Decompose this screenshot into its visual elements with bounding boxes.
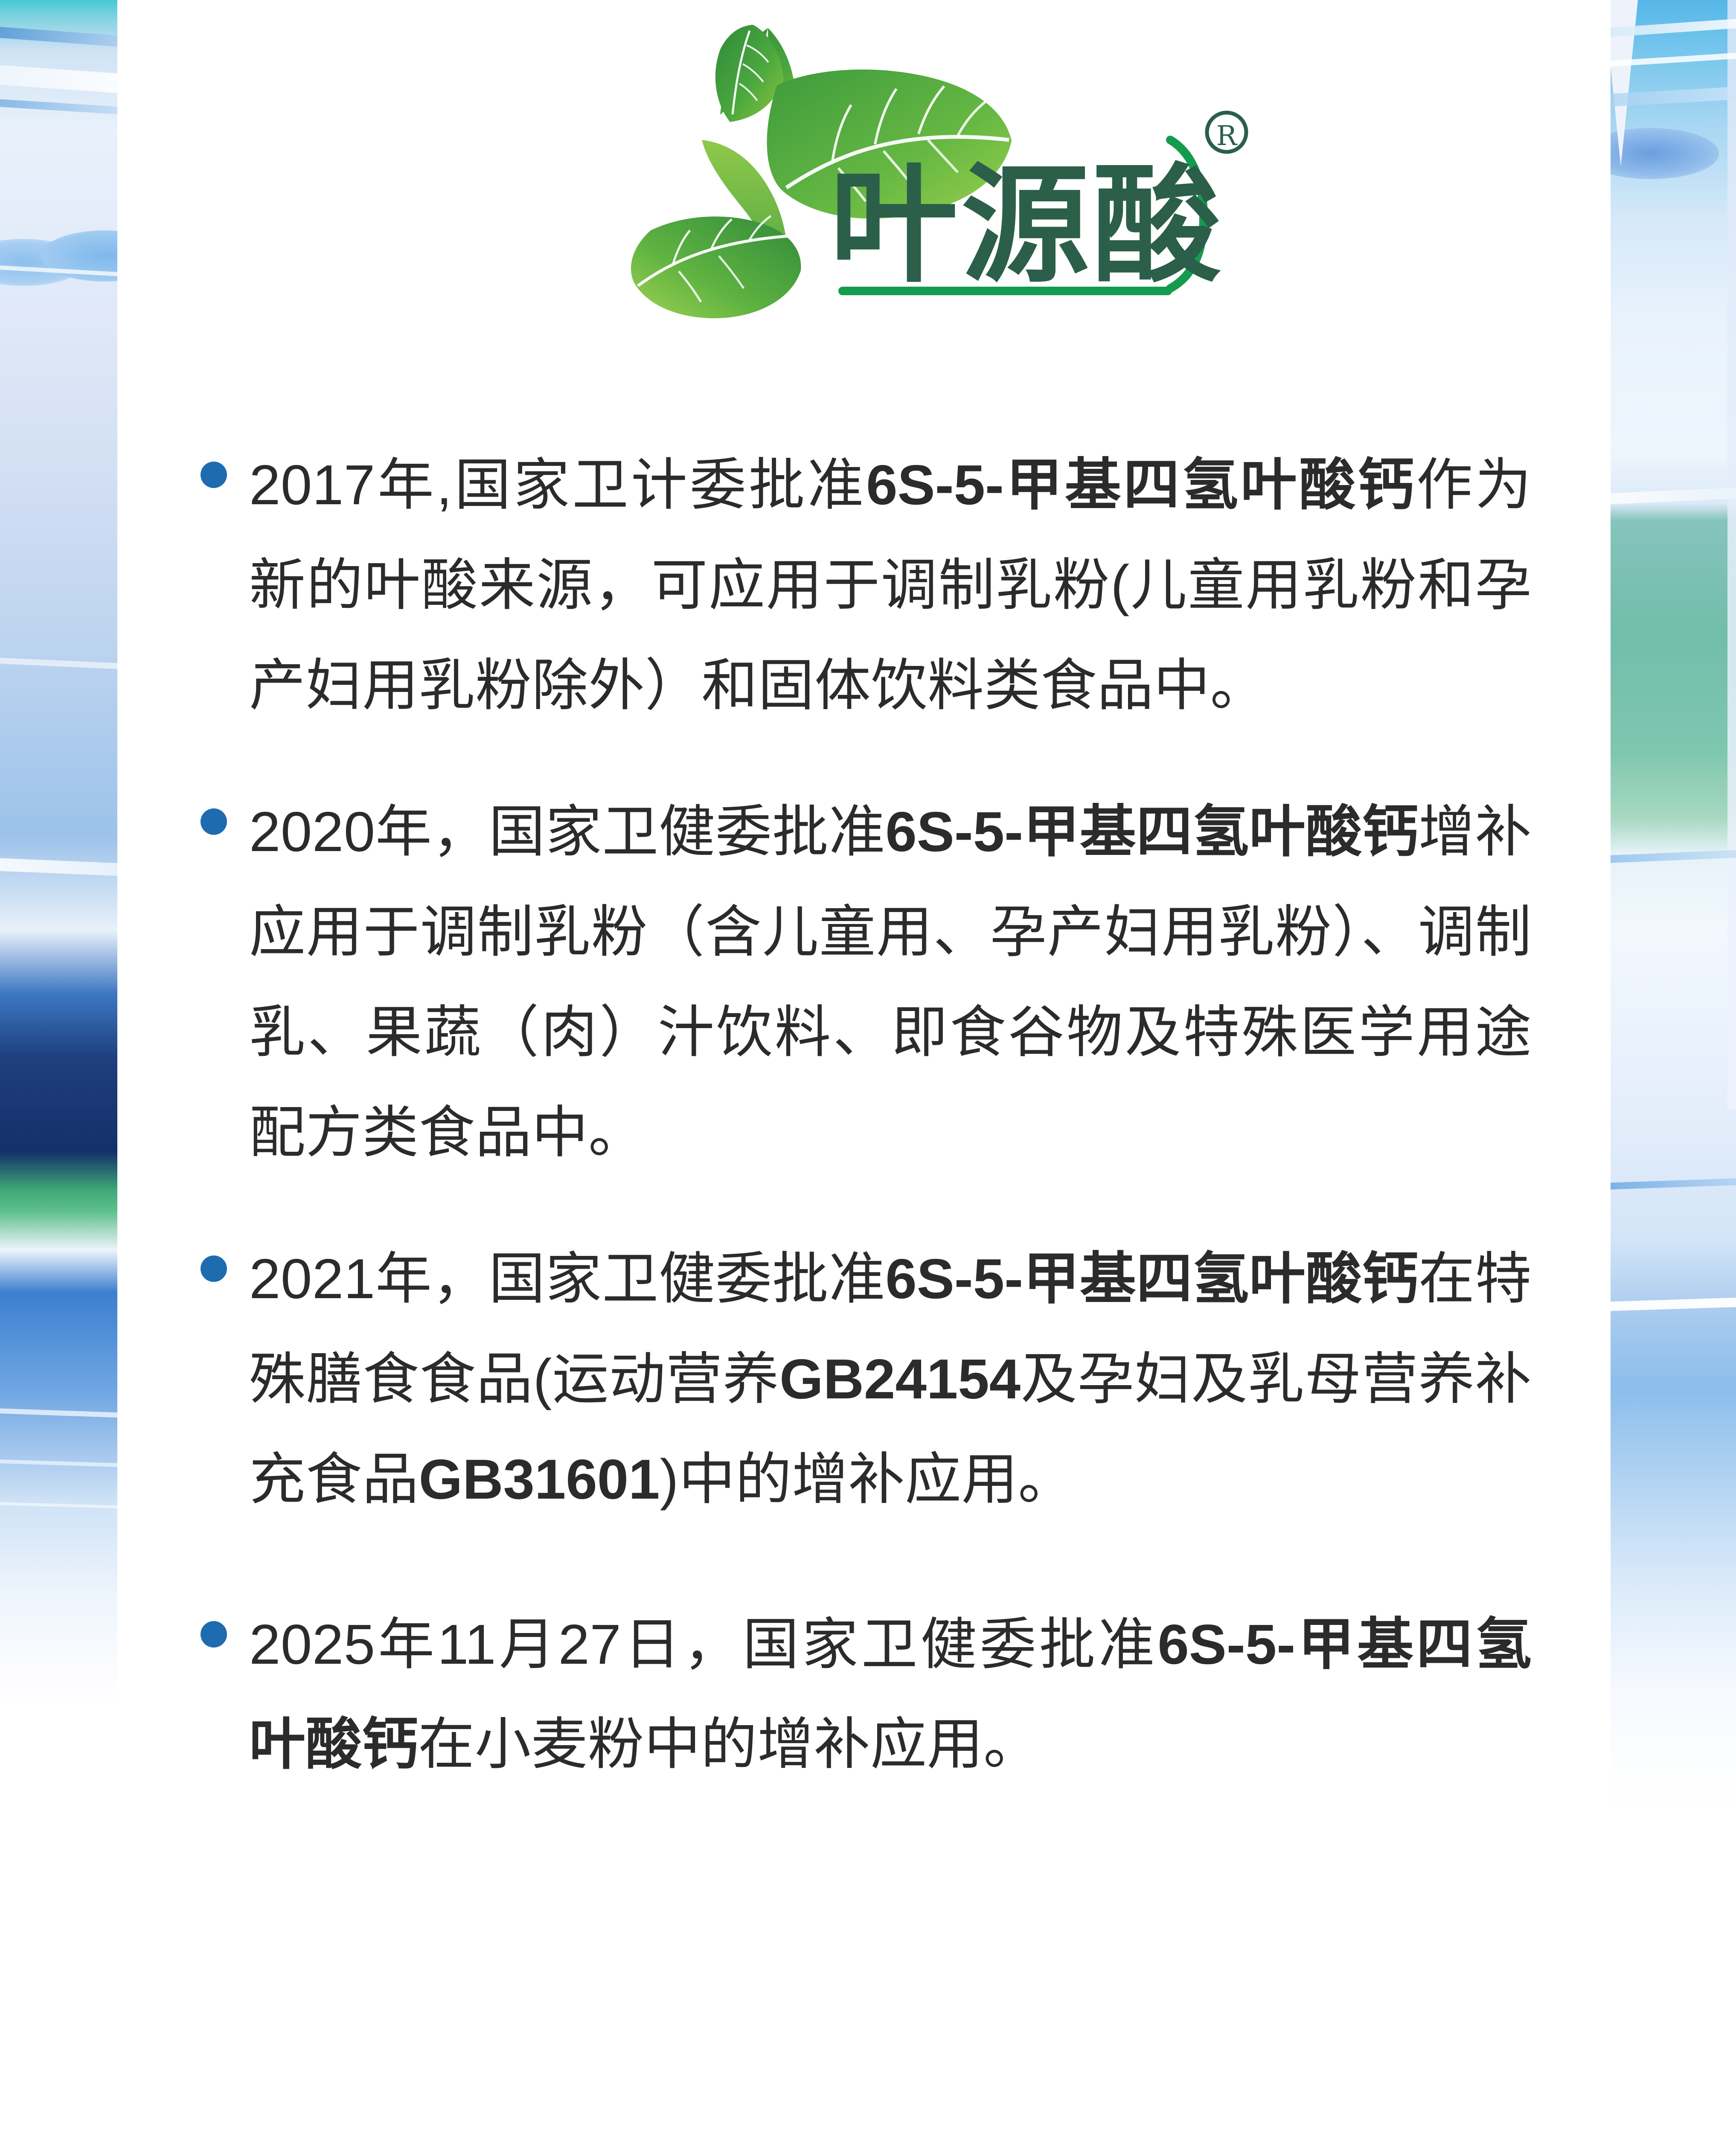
timeline-text-2020: 2020年，国家卫健委批准6S-5-甲基四氢叶酸钙增补应用于调制乳粉（含儿童用、… xyxy=(249,782,1532,1183)
right-wedge-shape xyxy=(1608,0,1638,166)
background-decoration-left xyxy=(0,0,124,2133)
svg-text:R: R xyxy=(1216,120,1238,152)
brand-logo: 叶源酸 R xyxy=(574,4,1256,328)
brand-wordmark: 叶源酸 xyxy=(830,151,1224,300)
registered-trademark-icon: R xyxy=(1207,113,1246,152)
right-bottom-fade xyxy=(1608,1624,1736,2133)
bullet-dot-icon xyxy=(201,1621,227,1648)
timeline-list: 2017年,国家卫计委批准6S-5-甲基四氢叶酸钙作为新的叶酸来源，可应用于调制… xyxy=(201,435,1532,1841)
bullet-dot-icon xyxy=(201,462,227,488)
bullet-dot-icon xyxy=(201,1255,227,1282)
timeline-text-2021: 2021年，国家卫健委批准6S-5-甲基四氢叶酸钙在特殊膳食食品(运动营养GB2… xyxy=(249,1229,1532,1530)
bullet-dot-icon xyxy=(201,808,227,835)
list-item: 2020年，国家卫健委批准6S-5-甲基四氢叶酸钙增补应用于调制乳粉（含儿童用、… xyxy=(201,782,1532,1183)
list-item: 2017年,国家卫计委批准6S-5-甲基四氢叶酸钙作为新的叶酸来源，可应用于调制… xyxy=(201,435,1532,736)
background-decoration-right xyxy=(1608,0,1736,2133)
content-panel: 叶源酸 R 2017年,国家卫计委批准6S-5-甲基四氢叶酸钙作为新的叶酸来源，… xyxy=(117,0,1611,2133)
list-item: 2021年，国家卫健委批准6S-5-甲基四氢叶酸钙在特殊膳食食品(运动营养GB2… xyxy=(201,1229,1532,1530)
left-bottom-fade xyxy=(0,1603,124,2133)
leaf-icon-lower xyxy=(631,216,801,318)
timeline-text-2017: 2017年,国家卫计委批准6S-5-甲基四氢叶酸钙作为新的叶酸来源，可应用于调制… xyxy=(249,435,1532,736)
list-item: 2025年11月27日，国家卫健委批准6S-5-甲基四氢叶酸钙在小麦粉中的增补应… xyxy=(201,1595,1532,1795)
right-vertical-band xyxy=(1727,0,1736,1109)
timeline-text-2025: 2025年11月27日，国家卫健委批准6S-5-甲基四氢叶酸钙在小麦粉中的增补应… xyxy=(249,1595,1532,1795)
